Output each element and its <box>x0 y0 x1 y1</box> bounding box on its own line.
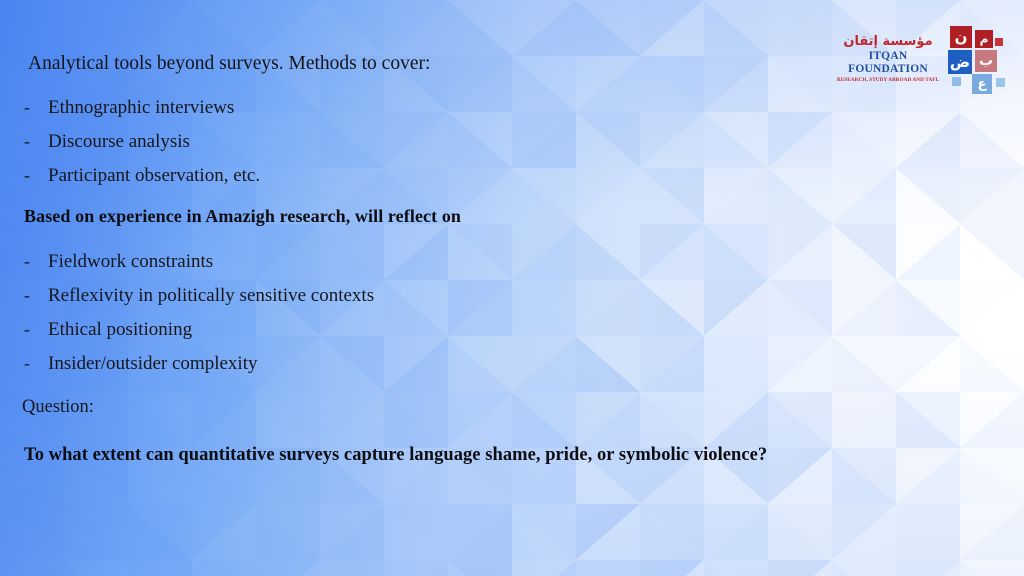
bullet-dash-icon: - <box>24 251 48 272</box>
list-item-label: Discourse analysis <box>48 131 190 153</box>
logo-tile-letter: ن <box>950 26 972 48</box>
list-item-label: Ethnographic interviews <box>48 97 234 119</box>
list-item-label: Reflexivity in politically sensitive con… <box>48 285 374 307</box>
logo-tile-accent <box>995 38 1003 46</box>
question-body: To what extent can quantitative surveys … <box>24 437 844 474</box>
bullet-dash-icon: - <box>24 285 48 306</box>
logo-tile-letter: ع <box>972 74 992 94</box>
list-item-reflection-2: -Ethical positioning <box>24 319 192 341</box>
list-item-reflection-0: -Fieldwork constraints <box>24 251 213 273</box>
slide-canvas: مؤسسة إتقان ITQAN FOUNDATION RESEARCH, S… <box>0 0 1024 576</box>
bullet-dash-icon: - <box>24 319 48 340</box>
bullet-dash-icon: - <box>24 165 48 186</box>
list-item-reflection-1: -Reflexivity in politically sensitive co… <box>24 285 374 307</box>
question-label: Question: <box>22 397 94 418</box>
slide-content: Analytical tools beyond surveys. Methods… <box>0 0 1024 576</box>
list-item-label: Participant observation, etc. <box>48 165 260 187</box>
list-item-method-1: -Discourse analysis <box>24 131 190 153</box>
logo-tile-accent <box>952 77 961 86</box>
logo-tile-letter: ض <box>948 50 972 74</box>
logo-tile-letter: م <box>975 30 993 48</box>
bullet-dash-icon: - <box>24 353 48 374</box>
logo-tile-accent <box>996 78 1005 87</box>
list-item-label: Ethical positioning <box>48 319 192 341</box>
bullet-dash-icon: - <box>24 131 48 152</box>
list-item-reflection-3: -Insider/outsider complexity <box>24 353 257 375</box>
list-item-method-2: -Participant observation, etc. <box>24 165 260 187</box>
bullet-dash-icon: - <box>24 97 48 118</box>
logo-tile-letter: ب <box>975 50 997 72</box>
list-item-method-0: -Ethnographic interviews <box>24 97 234 119</box>
list-item-label: Insider/outsider complexity <box>48 353 257 375</box>
list-item-label: Fieldwork constraints <box>48 251 213 273</box>
section-heading: Based on experience in Amazigh research,… <box>24 206 461 227</box>
slide-heading: Analytical tools beyond surveys. Methods… <box>28 53 430 75</box>
